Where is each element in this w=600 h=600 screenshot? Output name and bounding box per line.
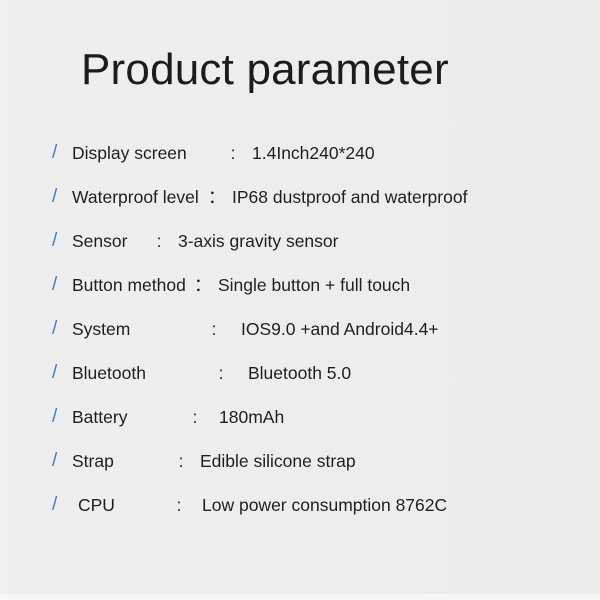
spec-value: Single button + full touch	[218, 263, 410, 307]
spec-separator: :	[168, 483, 190, 527]
spec-label: Button method	[72, 263, 194, 307]
spec-separator: :	[148, 219, 170, 263]
spec-value: 1.4Inch240*240	[252, 131, 375, 175]
spec-label: System	[72, 307, 203, 351]
spec-row: /Bluetooth:Bluetooth 5.0	[0, 351, 600, 395]
spec-separator: :	[170, 439, 192, 483]
spec-separator: :	[203, 307, 225, 351]
slash-bullet-icon: /	[52, 351, 66, 395]
slash-bullet-icon: /	[52, 439, 66, 483]
spec-separator: :	[210, 351, 232, 395]
slash-bullet-icon: /	[52, 263, 66, 307]
slash-bullet-icon: /	[52, 307, 66, 351]
spec-separator: ：	[194, 263, 210, 307]
spec-label: CPU	[72, 483, 168, 527]
slash-bullet-icon: /	[52, 131, 66, 175]
spec-row: /Battery:180mAh	[0, 395, 600, 439]
spec-label: Sensor	[72, 219, 148, 263]
spec-row: /Display screen:1.4Inch240*240	[0, 131, 600, 175]
spec-value: IP68 dustproof and waterproof	[232, 175, 467, 219]
specification-list: /Display screen:1.4Inch240*240/Waterproo…	[0, 131, 600, 527]
slash-bullet-icon: /	[52, 219, 66, 263]
spec-value: Bluetooth 5.0	[248, 351, 351, 395]
spec-label: Waterproof level	[72, 175, 208, 219]
spec-row: /Strap:Edible silicone strap	[0, 439, 600, 483]
spec-row: /Button method：Single button + full touc…	[0, 263, 600, 307]
spec-value: IOS9.0 +and Android4.4+	[241, 307, 439, 351]
spec-value: 3-axis gravity sensor	[178, 219, 338, 263]
slash-bullet-icon: /	[52, 175, 66, 219]
spec-value: Edible silicone strap	[200, 439, 356, 483]
spec-row: /System:IOS9.0 +and Android4.4+	[0, 307, 600, 351]
spec-value: 180mAh	[219, 395, 284, 439]
spec-separator: :	[222, 131, 244, 175]
spec-label: Strap	[72, 439, 170, 483]
product-parameter-page: Product parameter /Display screen:1.4Inc…	[0, 0, 600, 600]
spec-row: /Waterproof level：IP68 dustproof and wat…	[0, 175, 600, 219]
spec-label: Battery	[72, 395, 184, 439]
spec-row: /Sensor:3-axis gravity sensor	[0, 219, 600, 263]
spec-separator: :	[184, 395, 206, 439]
spec-label: Display screen	[72, 131, 222, 175]
slash-bullet-icon: /	[52, 483, 66, 527]
spec-separator: ：	[208, 175, 224, 219]
spec-label: Bluetooth	[72, 351, 210, 395]
page-title: Product parameter	[81, 44, 449, 96]
spec-row: /CPU:Low power consumption 8762C	[0, 483, 600, 527]
spec-value: Low power consumption 8762C	[202, 483, 447, 527]
slash-bullet-icon: /	[52, 395, 66, 439]
